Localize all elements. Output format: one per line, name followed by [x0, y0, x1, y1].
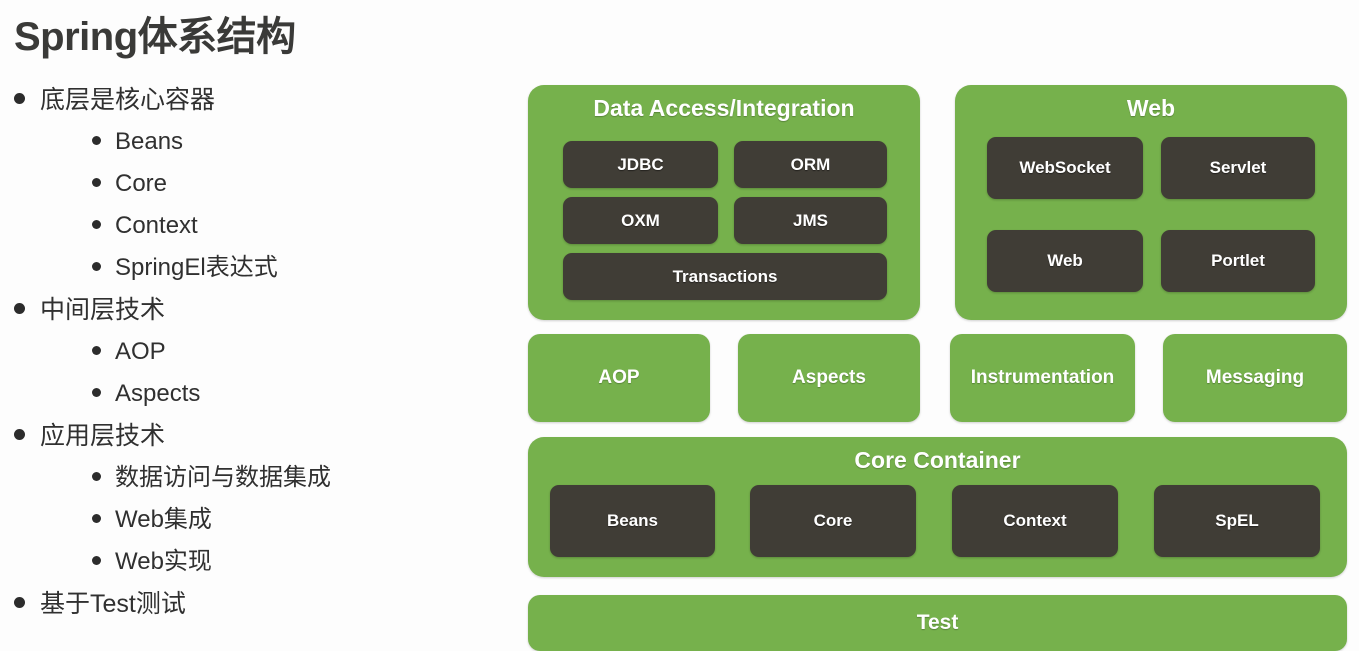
- list-item-label: Web集成: [115, 508, 212, 532]
- list-item-label: AOP: [115, 340, 166, 364]
- module-jms: JMS: [734, 197, 887, 244]
- module-instrumentation: Instrumentation: [950, 334, 1135, 422]
- module-aspects: Aspects: [738, 334, 920, 422]
- panel-web: Web WebSocket Servlet Web Portlet: [955, 85, 1347, 320]
- list-item: Beans: [0, 130, 520, 172]
- list-item-label: Context: [115, 214, 198, 238]
- module-beans: Beans: [550, 485, 715, 557]
- bullet-dot-icon: [92, 346, 101, 355]
- list-item: SpringEl表达式: [0, 256, 520, 298]
- bullet-dot-icon: [14, 93, 25, 104]
- list-item: Context: [0, 214, 520, 256]
- module-context: Context: [952, 485, 1118, 557]
- list-item: 基于Test测试: [0, 592, 520, 634]
- module-transactions: Transactions: [563, 253, 887, 300]
- module-orm: ORM: [734, 141, 887, 188]
- panel-core-container-title: Core Container: [528, 447, 1347, 474]
- panel-web-title: Web: [955, 95, 1347, 122]
- module-core: Core: [750, 485, 916, 557]
- bullet-dot-icon: [92, 472, 101, 481]
- list-item: 底层是核心容器: [0, 88, 520, 130]
- panel-data-access-integration-title: Data Access/Integration: [528, 95, 920, 122]
- module-messaging: Messaging: [1163, 334, 1347, 422]
- module-test: Test: [528, 595, 1347, 651]
- module-jdbc: JDBC: [563, 141, 718, 188]
- list-item: Web实现: [0, 550, 520, 592]
- bullet-dot-icon: [92, 220, 101, 229]
- list-item-label: 应用层技术: [40, 424, 165, 449]
- module-web: Web: [987, 230, 1143, 292]
- module-spel: SpEL: [1154, 485, 1320, 557]
- list-item: AOP: [0, 340, 520, 382]
- panel-data-access-integration: Data Access/Integration JDBC ORM OXM JMS…: [528, 85, 920, 320]
- bullet-dot-icon: [14, 303, 25, 314]
- list-item-label: 数据访问与数据集成: [115, 466, 331, 490]
- list-item-label: 基于Test测试: [40, 592, 186, 617]
- module-aop: AOP: [528, 334, 710, 422]
- list-item-label: 底层是核心容器: [40, 88, 215, 113]
- list-item-label: Aspects: [115, 382, 200, 406]
- list-item: Aspects: [0, 382, 520, 424]
- list-item: 中间层技术: [0, 298, 520, 340]
- bullet-dot-icon: [92, 262, 101, 271]
- module-servlet: Servlet: [1161, 137, 1315, 199]
- page-title: Spring体系结构: [14, 4, 296, 62]
- bullet-dot-icon: [92, 514, 101, 523]
- bullet-dot-icon: [92, 136, 101, 145]
- module-oxm: OXM: [563, 197, 718, 244]
- module-websocket: WebSocket: [987, 137, 1143, 199]
- list-item: Web集成: [0, 508, 520, 550]
- list-item-label: Core: [115, 172, 167, 196]
- bullet-dot-icon: [14, 597, 25, 608]
- list-item: 数据访问与数据集成: [0, 466, 520, 508]
- list-item-label: Web实现: [115, 550, 212, 574]
- panel-core-container: Core Container Beans Core Context SpEL: [528, 437, 1347, 577]
- bullet-dot-icon: [92, 388, 101, 397]
- bullet-dot-icon: [14, 429, 25, 440]
- list-item-label: Beans: [115, 130, 183, 154]
- outline-list: 底层是核心容器 Beans Core Context SpringEl表达式 中…: [0, 88, 520, 634]
- list-item: 应用层技术: [0, 424, 520, 466]
- module-portlet: Portlet: [1161, 230, 1315, 292]
- bullet-dot-icon: [92, 178, 101, 187]
- list-item-label: SpringEl表达式: [115, 256, 278, 280]
- list-item-label: 中间层技术: [40, 298, 165, 323]
- list-item: Core: [0, 172, 520, 214]
- bullet-dot-icon: [92, 556, 101, 565]
